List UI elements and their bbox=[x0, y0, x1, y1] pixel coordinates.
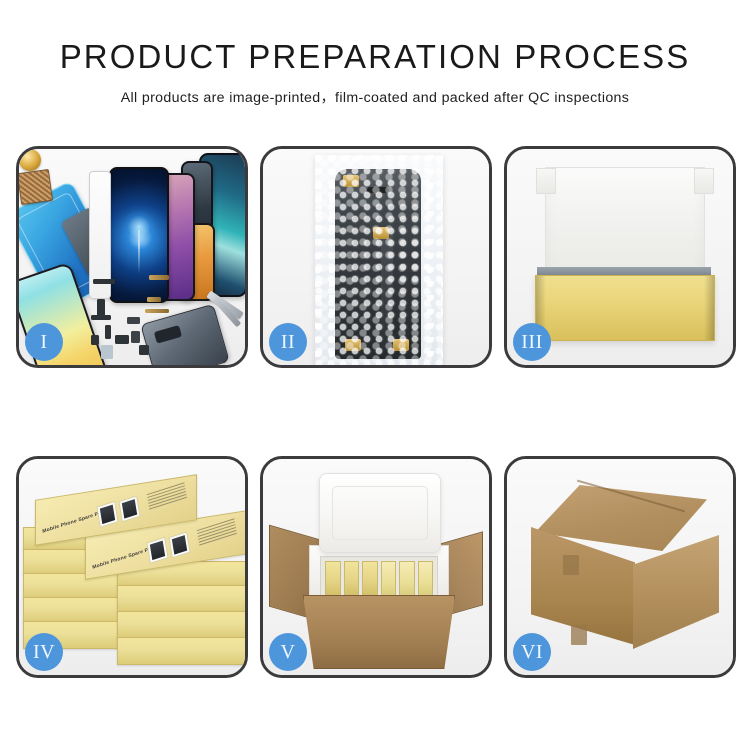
panel-5-badge: V bbox=[269, 633, 307, 671]
process-panel-3[interactable]: III bbox=[504, 146, 736, 368]
spare-part-strip-4 bbox=[105, 325, 111, 339]
stack-box-r4 bbox=[117, 637, 247, 665]
styrofoam-lid bbox=[319, 473, 441, 553]
packed-box-5 bbox=[399, 561, 415, 597]
packed-box-3 bbox=[362, 561, 378, 597]
box-spec-lines-2 bbox=[197, 518, 237, 547]
phone-blue-display bbox=[109, 167, 169, 303]
panel-3-badge: III bbox=[513, 323, 551, 361]
carton-right-face bbox=[633, 535, 719, 649]
process-panel-grid: I II bbox=[16, 146, 736, 678]
spare-part-flex-3 bbox=[145, 309, 169, 313]
spare-part-flex-2 bbox=[147, 297, 161, 302]
spare-part-strip-5 bbox=[91, 335, 99, 345]
carton-tape-upper bbox=[563, 555, 579, 575]
panel-1-badge: I bbox=[25, 323, 63, 361]
process-panel-4[interactable]: Mobile Phone Spare Parts Mobile Phone Sp… bbox=[16, 456, 248, 678]
box-window-1a bbox=[96, 501, 118, 528]
box-window-2b bbox=[168, 531, 190, 558]
spare-part-camera bbox=[115, 335, 129, 344]
spare-part-flex-1 bbox=[149, 275, 169, 280]
spare-part-strip-3 bbox=[91, 315, 111, 320]
box-window-1b bbox=[118, 495, 140, 522]
process-panel-6[interactable]: VI bbox=[504, 456, 736, 678]
stack-box-l4 bbox=[23, 597, 121, 623]
bubble-wrap-bag bbox=[315, 155, 443, 365]
lid-tab-right bbox=[694, 168, 714, 194]
spare-part-strip-6 bbox=[127, 317, 140, 324]
yellow-box-front bbox=[535, 275, 715, 341]
box-spec-lines-1 bbox=[147, 482, 187, 511]
spare-part-button bbox=[139, 345, 149, 355]
box-edge-right bbox=[704, 276, 714, 340]
panel-6-badge: VI bbox=[513, 633, 551, 671]
packed-box-4 bbox=[381, 561, 397, 597]
gold-speaker-part bbox=[19, 149, 41, 171]
panel-2-badge: II bbox=[269, 323, 307, 361]
page-title: PRODUCT PREPARATION PROCESS bbox=[0, 40, 750, 73]
spare-part-strip-1 bbox=[93, 279, 115, 284]
stack-box-l3 bbox=[23, 573, 121, 599]
lid-tab-left bbox=[536, 168, 556, 194]
packed-box-2 bbox=[344, 561, 360, 597]
bubble-texture-back bbox=[315, 155, 443, 365]
spare-part-sim-tray bbox=[101, 345, 113, 359]
phone-back-cover bbox=[140, 304, 230, 368]
page-header: PRODUCT PREPARATION PROCESS All products… bbox=[0, 0, 750, 107]
process-panel-2[interactable]: II bbox=[260, 146, 492, 368]
stack-box-r2 bbox=[117, 585, 247, 613]
packed-box-1 bbox=[325, 561, 341, 597]
packed-yellow-boxes bbox=[325, 561, 433, 597]
carton-tape-lower bbox=[571, 625, 587, 645]
packed-box-6 bbox=[418, 561, 434, 597]
carton-body bbox=[303, 595, 455, 669]
logic-board-chip bbox=[17, 169, 53, 205]
page-subtitle: All products are image-printed，film-coat… bbox=[0, 87, 750, 107]
process-panel-1[interactable]: I bbox=[16, 146, 248, 368]
panel-4-badge: IV bbox=[25, 633, 63, 671]
stack-box-r3 bbox=[117, 611, 247, 639]
process-panel-5[interactable]: V bbox=[260, 456, 492, 678]
spare-part-vibrator bbox=[131, 331, 140, 343]
box-window-2a bbox=[146, 537, 168, 564]
